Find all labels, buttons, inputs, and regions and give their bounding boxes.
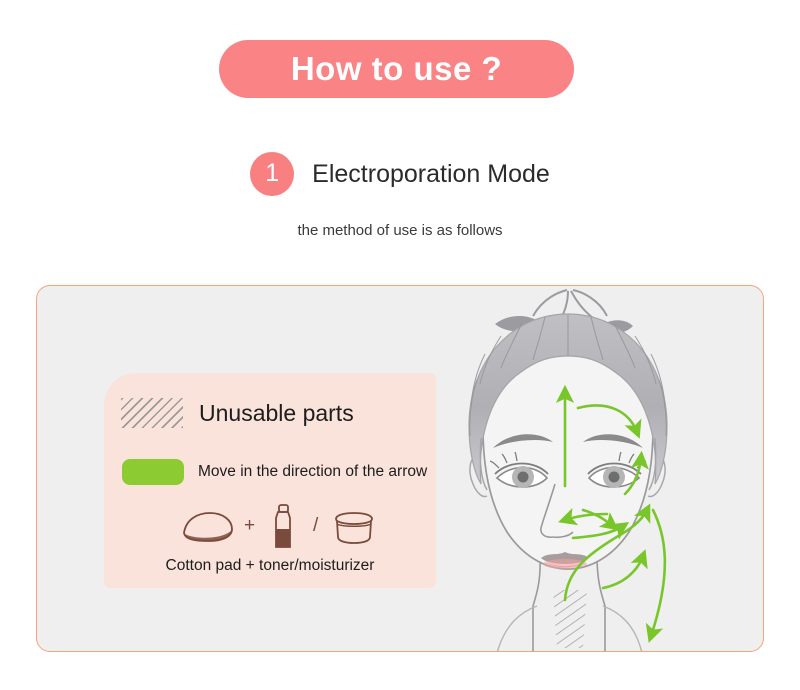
legend-row-unusable: Unusable parts bbox=[121, 398, 354, 428]
legend-caption: Cotton pad + toner/moisturizer bbox=[104, 557, 436, 575]
toner-bottle-icon bbox=[268, 503, 298, 551]
legend-row-direction: Move in the direction of the arrow bbox=[122, 459, 427, 485]
unusable-neck-region bbox=[553, 590, 587, 648]
step-subtitle: the method of use is as follows bbox=[0, 222, 800, 239]
instruction-panel: Unusable parts Move in the direction of … bbox=[36, 285, 764, 652]
how-to-use-banner: How to use ? bbox=[219, 40, 574, 98]
cotton-pad-icon bbox=[180, 509, 236, 545]
female-face-illustration bbox=[437, 288, 764, 652]
arrow-neck-side-down bbox=[651, 510, 665, 636]
legend-direction-label: Move in the direction of the arrow bbox=[198, 463, 427, 481]
page-title: How to use ? bbox=[291, 50, 502, 88]
neck-and-shoulders bbox=[497, 556, 642, 652]
green-swatch-icon bbox=[122, 459, 184, 485]
hatch-pattern-icon bbox=[121, 398, 183, 428]
legend-icon-row: + / bbox=[180, 503, 370, 551]
plus-symbol: + bbox=[244, 515, 255, 537]
moisturizer-jar-icon bbox=[332, 511, 376, 545]
legend-card: Unusable parts Move in the direction of … bbox=[104, 373, 436, 588]
slash-symbol: / bbox=[313, 515, 318, 537]
step-header: 1 Electroporation Mode bbox=[0, 152, 800, 196]
step-number-badge: 1 bbox=[250, 152, 294, 196]
arrow-jaw-to-ear-2 bbox=[603, 556, 643, 588]
legend-unusable-label: Unusable parts bbox=[199, 400, 354, 427]
step-title: Electroporation Mode bbox=[312, 160, 550, 189]
